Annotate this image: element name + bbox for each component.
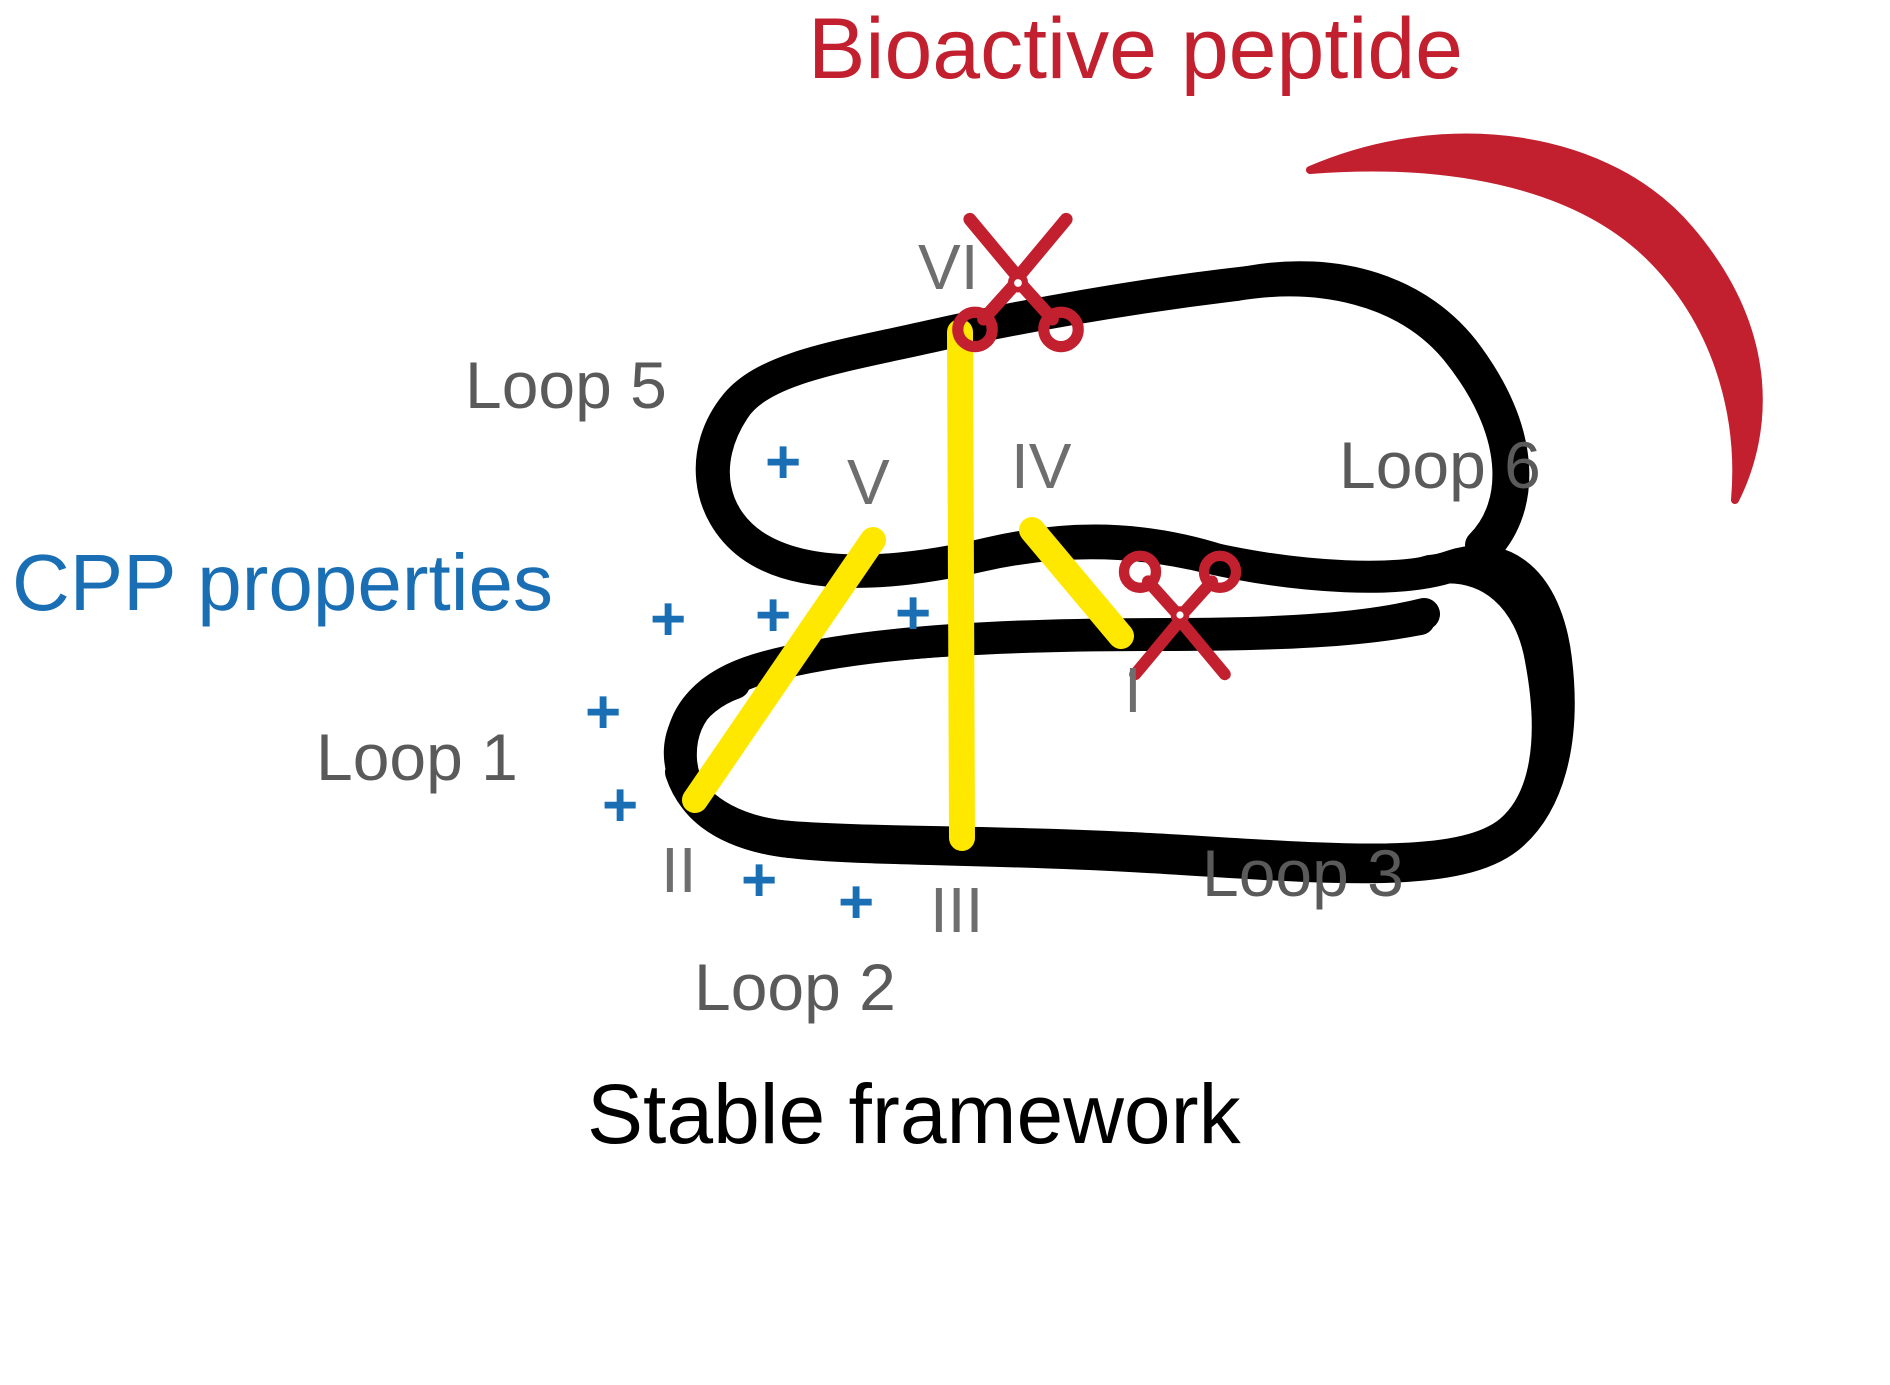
- charge-plus-8: +: [838, 872, 874, 934]
- charge-plus-1: +: [765, 432, 801, 494]
- charge-plus-4: +: [895, 583, 931, 645]
- charge-plus-7: +: [741, 850, 777, 912]
- cpp-properties-label: CPP properties: [12, 543, 553, 623]
- bioactive-peptide-label: Bioactive peptide: [808, 6, 1463, 92]
- charge-plus-5: +: [585, 682, 621, 744]
- loop-label-2: Loop 2: [694, 954, 896, 1020]
- charge-plus-6: +: [602, 775, 638, 837]
- cysteine-label-II: II: [661, 838, 697, 902]
- loop-label-1: Loop 1: [316, 724, 518, 790]
- cysteine-label-IV: IV: [1011, 434, 1071, 498]
- cysteine-label-III: III: [930, 878, 983, 942]
- loop-label-6: Loop 6: [1339, 432, 1541, 498]
- charge-plus-2: +: [650, 589, 686, 651]
- diagram-artwork: [0, 0, 1890, 1385]
- loop-label-5: Loop 5: [465, 352, 667, 418]
- stable-framework-label: Stable framework: [587, 1072, 1241, 1156]
- cysteine-label-V: V: [847, 450, 890, 514]
- charge-plus-3: +: [755, 585, 791, 647]
- cysteine-label-I: I: [1124, 658, 1142, 722]
- bond-III-VI: [960, 332, 962, 838]
- cysteine-label-VI: VI: [918, 235, 978, 299]
- figure-canvas: Bioactive peptide CPP properties Stable …: [0, 0, 1890, 1385]
- loop-label-3: Loop 3: [1202, 840, 1404, 906]
